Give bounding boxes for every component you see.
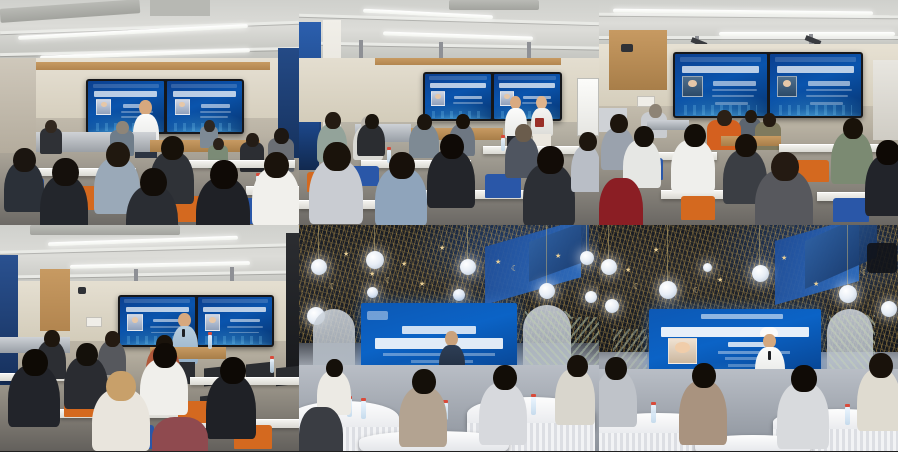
presentation-screen-group[interactable] [673, 52, 863, 118]
audience-member [865, 156, 898, 216]
sphere-lantern [366, 251, 384, 269]
sphere-lantern [539, 283, 555, 299]
sphere-lantern [752, 265, 769, 282]
sphere-lantern [659, 281, 677, 299]
sphere-lantern [605, 299, 619, 313]
microphone [182, 329, 185, 337]
water-bottle [845, 407, 850, 425]
sphere-lantern [703, 263, 712, 272]
wall-switch-panel [86, 317, 102, 327]
water-bottle [531, 397, 536, 415]
audience-member [571, 146, 599, 192]
sphere-lantern [580, 251, 594, 265]
audience-member [152, 417, 208, 451]
wood-trim [30, 62, 270, 70]
photo-top-center[interactable] [299, 0, 599, 225]
chair [681, 196, 715, 220]
guest [679, 381, 727, 445]
photo-bottom-left[interactable] [0, 225, 299, 451]
sphere-lantern [453, 289, 465, 301]
guest [857, 369, 898, 431]
ceiling-rigging [867, 243, 897, 273]
ceiling-duct [30, 225, 180, 235]
water-bottle [361, 401, 366, 419]
front-equipment-counter [647, 120, 689, 130]
led-welcome-text [402, 326, 477, 334]
slide-left [425, 74, 491, 119]
sphere-lantern [460, 259, 476, 275]
photo-bottom-center[interactable]: ★ ★ ★ ★ ★ ☾ ☾ ☾ ★ ★ [299, 225, 599, 451]
photo-top-left[interactable] [0, 0, 299, 225]
wall-speaker [621, 44, 633, 52]
slide-right [770, 54, 862, 116]
certificate [535, 118, 544, 127]
guest [299, 407, 343, 451]
side-wall [0, 58, 36, 153]
guest [777, 383, 829, 449]
led-header-text [701, 314, 784, 319]
wood-wall-panel [40, 269, 70, 331]
audience-member [206, 375, 256, 439]
wall-display-panel [299, 118, 319, 170]
presentation-screen-group[interactable] [86, 79, 244, 134]
led-main-title [661, 327, 809, 337]
wood-trim [375, 58, 561, 65]
chair [833, 198, 869, 222]
side-wall [873, 60, 898, 140]
led-main-title [375, 338, 503, 349]
guest [555, 369, 595, 425]
water-bottle [501, 138, 505, 151]
sphere-lantern [601, 259, 617, 275]
audience-member [599, 178, 643, 225]
wall-speaker [78, 287, 86, 294]
led-speaker-portrait [668, 338, 698, 365]
audience-member [671, 140, 715, 192]
whiteboard [577, 78, 599, 136]
slide-left [675, 54, 767, 116]
guest [479, 383, 527, 445]
guest [399, 387, 447, 447]
water-bottle [651, 405, 656, 423]
wood-wall-panel [609, 30, 667, 90]
ceiling-duct [449, 0, 539, 10]
sphere-lantern [881, 301, 897, 317]
side-wall-dark [286, 233, 299, 383]
sphere-lantern [311, 259, 327, 275]
photo-collage: ★ ★ ★ ★ ★ ☾ ☾ ☾ ★ ★ [0, 0, 898, 451]
sphere-lantern [367, 287, 378, 298]
sphere-lantern [839, 285, 857, 303]
photo-top-right[interactable] [599, 0, 898, 225]
wall-display-panel [0, 255, 18, 385]
photo-bottom-right[interactable]: ★ ★ ★ ☾ ☾ ★ ★ ☾ [599, 225, 898, 451]
ceiling-vent [150, 0, 210, 16]
led-logo [367, 311, 387, 320]
water-bottle [208, 335, 212, 349]
microphone [768, 351, 771, 360]
water-bottle [270, 359, 274, 373]
sphere-lantern [585, 291, 597, 303]
